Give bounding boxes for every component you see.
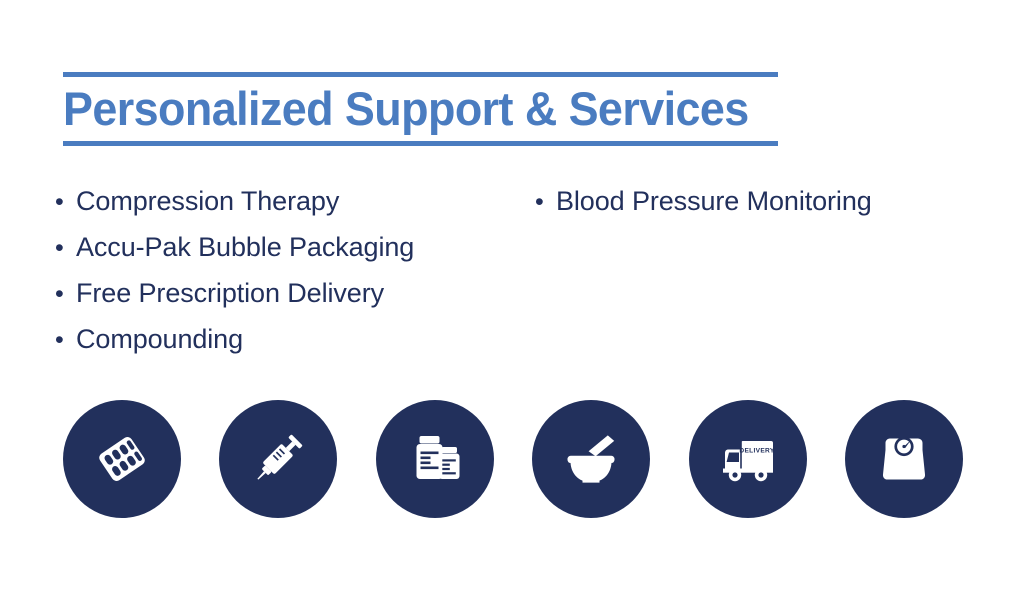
delivery-truck-icon: DELIVERY (713, 424, 783, 494)
services-list-right: • Blood Pressure Monitoring (535, 178, 975, 224)
service-label: Free Prescription Delivery (76, 270, 384, 316)
service-label: Compounding (76, 316, 243, 362)
service-label: Compression Therapy (76, 178, 339, 224)
list-item: • Free Prescription Delivery (55, 270, 535, 316)
pill-bottles-icon (403, 427, 467, 491)
title-rule-bottom (63, 141, 778, 146)
service-label: Accu-Pak Bubble Packaging (76, 224, 414, 270)
icon-badge-mortar-pestle (532, 400, 650, 518)
icon-badge-syringe (219, 400, 337, 518)
list-item: • Compounding (55, 316, 535, 362)
bullet-icon: • (55, 179, 76, 225)
bullet-icon: • (55, 317, 76, 363)
icon-badge-pill-bottles (376, 400, 494, 518)
list-item: • Accu-Pak Bubble Packaging (55, 224, 535, 270)
mortar-pestle-icon (559, 427, 623, 491)
page-title: Personalized Support & Services (63, 77, 746, 141)
syringe-icon (246, 427, 310, 491)
services-lists: • Compression Therapy • Accu-Pak Bubble … (55, 178, 995, 362)
title-block: Personalized Support & Services (63, 72, 778, 146)
truck-label: DELIVERY (739, 448, 774, 455)
services-list-left: • Compression Therapy • Accu-Pak Bubble … (55, 178, 535, 362)
bullet-icon: • (535, 179, 556, 225)
blister-pack-icon (90, 427, 154, 491)
icon-badge-blister-pack (63, 400, 181, 518)
list-item: • Compression Therapy (55, 178, 535, 224)
icon-badge-weight-scale (845, 400, 963, 518)
service-icon-row: DELIVERY (63, 400, 963, 518)
weight-scale-icon (872, 427, 936, 491)
service-label: Blood Pressure Monitoring (556, 178, 872, 224)
icon-badge-delivery-truck: DELIVERY (689, 400, 807, 518)
list-item: • Blood Pressure Monitoring (535, 178, 975, 224)
bullet-icon: • (55, 225, 76, 271)
bullet-icon: • (55, 271, 76, 317)
slide-canvas: Personalized Support & Services • Compre… (0, 0, 1025, 590)
